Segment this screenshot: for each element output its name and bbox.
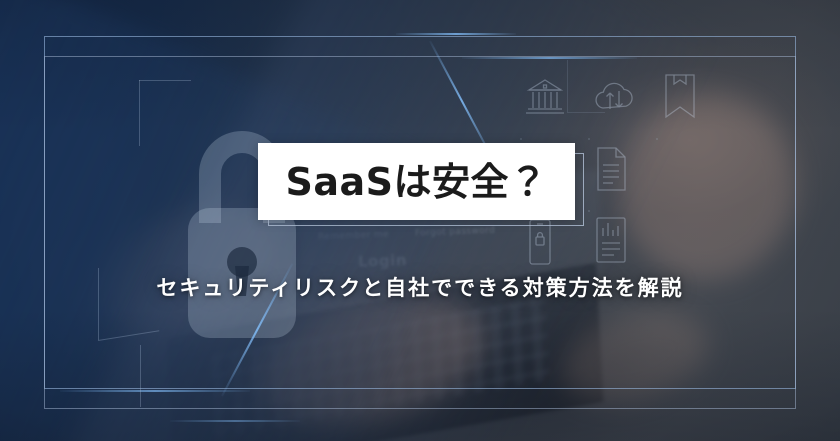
title-card: SaaSは安全？ [258, 143, 575, 220]
page-subtitle: セキュリティリスクと自社でできる対策方法を解説 [0, 272, 840, 302]
page-title: SaaSは安全？ [285, 163, 547, 201]
hero-banner: Login Remember me Forgot password [0, 0, 840, 441]
